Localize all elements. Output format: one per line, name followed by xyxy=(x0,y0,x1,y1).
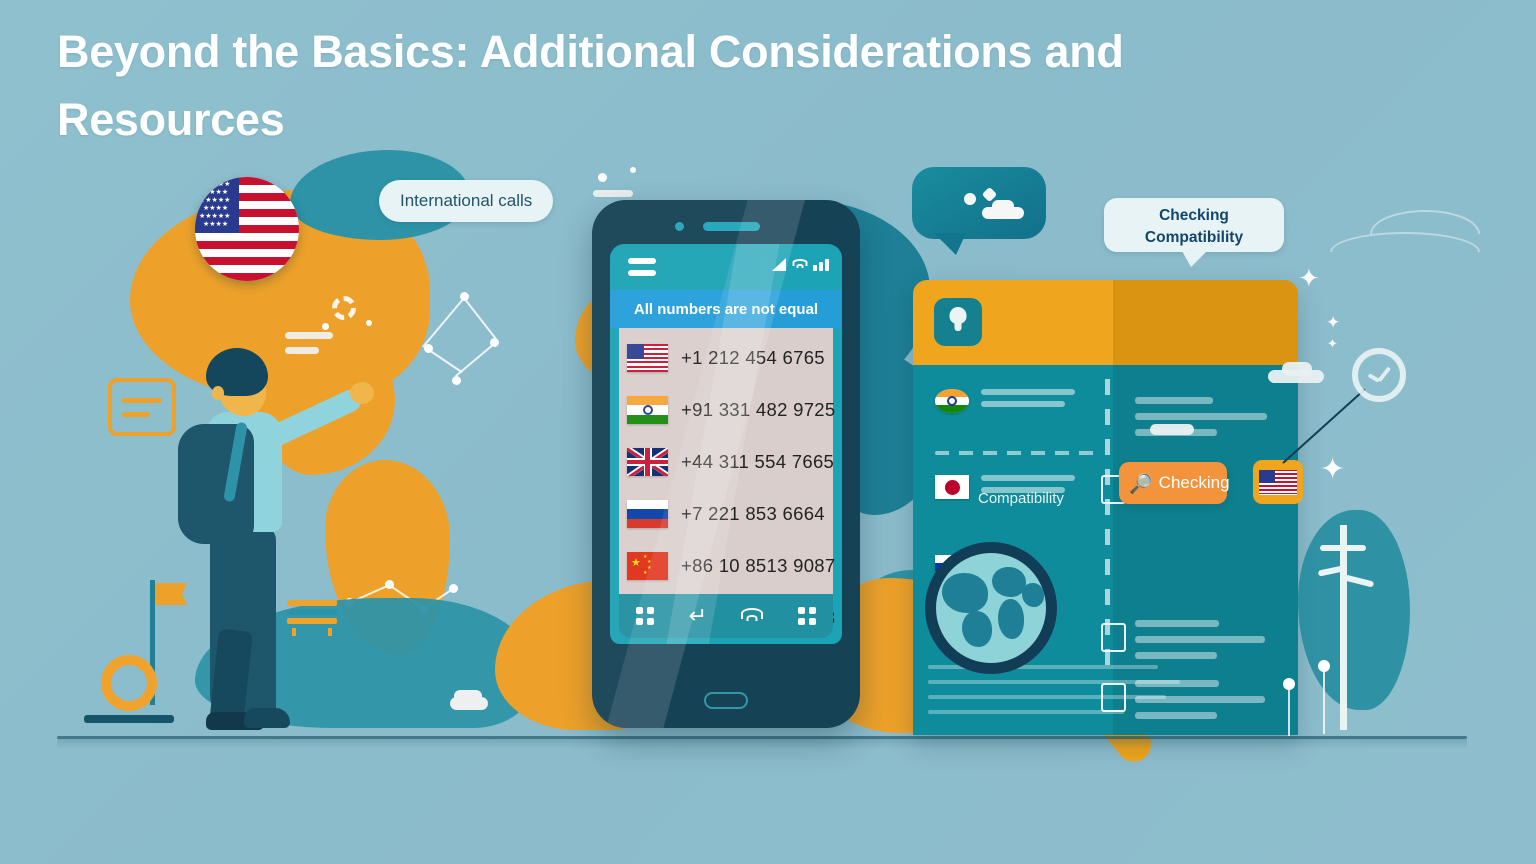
ring-decoration xyxy=(101,655,157,711)
light-dot-icon xyxy=(1318,660,1330,672)
placeholder-text xyxy=(981,389,1075,407)
map-dot-4 xyxy=(630,167,636,173)
magnifier-person-icon: 🔎 xyxy=(1129,472,1153,495)
sparkle-icon: ✦ xyxy=(1326,315,1340,332)
map-dot-3 xyxy=(598,173,607,182)
tree-branch xyxy=(1320,545,1366,551)
checkbox-icon[interactable] xyxy=(1101,623,1126,652)
sparkle-icon: ✦ xyxy=(1298,266,1320,292)
us-flag-icon xyxy=(627,344,668,372)
status-icons-group xyxy=(772,258,829,271)
pebble-decoration-2 xyxy=(454,690,482,702)
phone-bottom-nav: ↵ xyxy=(619,594,833,638)
bubble-dot-icon xyxy=(964,193,976,205)
list-item[interactable]: ★ ★ ★ ★ ★ +86 10 8513 9087 xyxy=(619,540,833,592)
phone-number: +7 221 853 6664 xyxy=(681,503,825,525)
light-dot-icon xyxy=(1283,678,1295,690)
us-flag-circle-icon: ★★★★★ ★★★★ ★★★★★ ★★★★ ★★★★★ ★★★★ xyxy=(195,177,299,281)
light-stem xyxy=(1288,690,1290,736)
tree-stem xyxy=(1340,525,1347,730)
phone-number: +91 331 482 9725 xyxy=(681,399,836,421)
map-bar-3 xyxy=(593,190,633,197)
checking-compatibility-callout: Checking Compatibility xyxy=(1104,198,1284,252)
ru-flag-icon xyxy=(627,500,668,528)
phone-icon[interactable]: ↵ xyxy=(689,604,707,629)
gb-flag-icon xyxy=(627,448,668,476)
map-dot-1 xyxy=(322,323,329,330)
smartphone-device: All numbers are not equal +1 212 454 676… xyxy=(592,200,860,728)
callout-line-1: Checking xyxy=(1104,205,1284,227)
wifi-icon xyxy=(792,258,807,271)
sparkle-icon: ✦ xyxy=(1320,455,1345,485)
list-item[interactable]: +7 221 853 6664 xyxy=(619,488,833,540)
card-header xyxy=(913,280,1298,365)
home-button[interactable] xyxy=(704,692,748,709)
constellation-1 xyxy=(424,292,504,382)
us-flag-chip[interactable] xyxy=(1253,460,1303,504)
earpiece-speaker xyxy=(703,222,760,231)
document-outline-icon xyxy=(108,378,176,436)
hamburger-menu-icon[interactable] xyxy=(628,258,656,282)
battery-icon xyxy=(813,259,829,271)
placeholder-text xyxy=(1135,620,1265,659)
map-dot-2 xyxy=(366,320,372,326)
jp-flag-icon xyxy=(935,475,969,499)
teal-speech-bubble xyxy=(912,167,1046,239)
phone-number: +44 311 554 7665 xyxy=(681,451,834,473)
phone-number: +1 212 454 6765 xyxy=(681,347,825,369)
tree-icon xyxy=(1298,510,1410,710)
cloud-icon-2 xyxy=(1150,424,1194,435)
us-flag-icon xyxy=(1259,470,1297,495)
cn-flag-icon: ★ ★ ★ ★ ★ xyxy=(627,552,668,580)
cloud-icon-top xyxy=(1282,362,1312,376)
in-flag-icon xyxy=(627,396,668,424)
flagpole-base xyxy=(84,715,174,723)
light-stem xyxy=(1323,672,1325,734)
magnifying-glass-globe-icon xyxy=(925,542,1057,674)
clock-icon xyxy=(1352,348,1406,402)
wifi-icon[interactable] xyxy=(741,608,763,624)
sparkle-icon: ✦ xyxy=(1327,338,1338,351)
compatibility-label: Compatibility xyxy=(978,490,1064,507)
phone-number: +86 10 8513 9087 xyxy=(681,555,836,577)
list-item[interactable]: +44 311 554 7665 xyxy=(619,436,833,488)
phone-screen: All numbers are not equal +1 212 454 676… xyxy=(610,244,842,644)
traveler-person-icon xyxy=(168,330,348,730)
front-camera-icon xyxy=(675,222,684,231)
phone-status-bar xyxy=(610,244,842,292)
dashed-divider xyxy=(935,451,1095,455)
ground-shadow xyxy=(57,739,1467,749)
callout-line-2: Compatibility xyxy=(1104,227,1284,249)
gear-dots-icon xyxy=(332,296,356,320)
checking-button-label: Checking xyxy=(1159,473,1230,493)
arc-decoration-1 xyxy=(1370,210,1480,234)
international-calls-pill[interactable]: International calls xyxy=(379,180,553,222)
lightbulb-icon xyxy=(934,298,982,346)
phone-number-list: +1 212 454 6765 +91 331 482 9725 +44 311… xyxy=(619,328,833,628)
grid-icon[interactable] xyxy=(636,607,654,625)
in-flag-icon xyxy=(935,389,969,413)
arc-decoration-2 xyxy=(1330,232,1480,252)
grid-icon[interactable] xyxy=(798,607,816,625)
list-item[interactable]: +91 331 482 9725 xyxy=(619,384,833,436)
signal-icon xyxy=(772,258,786,271)
page-title: Beyond the Basics: Additional Considerat… xyxy=(57,18,1287,155)
list-header: All numbers are not equal xyxy=(610,290,842,328)
bubble-cloud-icon-2 xyxy=(992,200,1014,212)
checking-button[interactable]: 🔎 Checking xyxy=(1119,462,1227,504)
card-row xyxy=(935,389,1075,413)
list-item[interactable]: +1 212 454 6765 xyxy=(619,332,833,384)
